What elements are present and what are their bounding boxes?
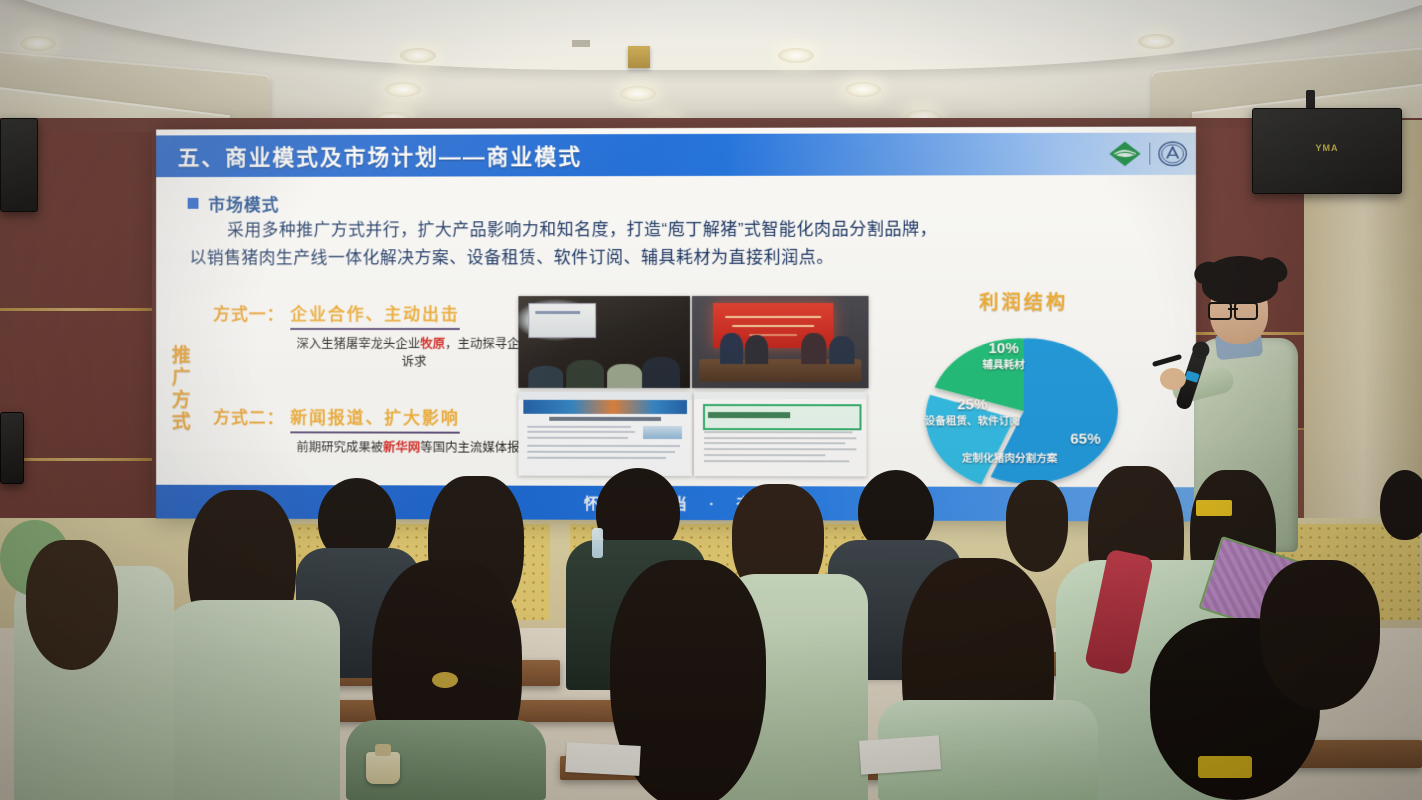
slide-logo-group xyxy=(1108,141,1188,167)
downlight-icon xyxy=(385,82,421,97)
slide-paragraph: 采用多种推广方式并行，扩大产品影响力和知名度，打造“庖丁解猪”式智能化肉品分割品… xyxy=(190,215,1155,271)
promo-way-two-desc-highlight: 新华网 xyxy=(383,440,420,454)
promo-way-one-desc-pre: 深入生猪屠宰龙头企业 xyxy=(296,337,420,351)
photo-person xyxy=(720,333,743,364)
slide-bullet-row: 市场模式 xyxy=(188,191,280,216)
promo-way-one-heading: 方式一： 企业合作、主动出击 xyxy=(213,300,538,330)
photo-person xyxy=(801,333,826,364)
water-bottle xyxy=(592,528,603,558)
banner-text-line xyxy=(725,316,821,318)
slide-title: 五、商业模式及市场计划——商业模式 xyxy=(178,139,582,172)
hair-clip-icon xyxy=(1196,500,1232,516)
downlight-icon xyxy=(400,48,436,63)
news-article-screenshot-right xyxy=(694,392,867,476)
paragraph-line-1-text: 采用多种推广方式并行，扩大产品影响力和知名度，打造“庖丁解猪”式智能化肉品分割品… xyxy=(227,220,937,240)
photo-person xyxy=(566,360,604,388)
bullet-square-icon xyxy=(188,198,199,209)
promo-way-two-number: 方式二： xyxy=(213,403,284,428)
university-seal-logo-icon xyxy=(1157,141,1187,167)
article-text-line xyxy=(704,454,825,456)
downlight-icon xyxy=(845,82,881,97)
slide-bullet-label: 市场模式 xyxy=(208,191,279,216)
wall-gold-trim xyxy=(0,308,152,311)
pie-label-65-name: 定制化猪肉分割方案 xyxy=(929,452,1091,466)
article-thumbnail xyxy=(643,426,681,439)
promo-way-two-title: 新闻报道、扩大影响 xyxy=(290,404,459,434)
drink-cup xyxy=(366,752,400,784)
projection-screen[interactable]: 五、商业模式及市场计划——商业模式 xyxy=(156,126,1196,521)
article-text-line xyxy=(527,451,675,453)
photo-person xyxy=(642,357,680,388)
hair-clip-icon xyxy=(432,672,458,688)
browser-topbar xyxy=(518,392,692,400)
headline-text xyxy=(708,412,791,418)
audience-long-hair xyxy=(1260,560,1380,710)
whiteboard xyxy=(529,303,596,338)
presenter-hair xyxy=(1202,256,1278,304)
pie-value-65: 65% xyxy=(1070,431,1100,450)
ceiling-vent-icon xyxy=(572,40,590,47)
speaker-brand-label: YMA xyxy=(1316,143,1339,153)
ceiling-projector-mount xyxy=(628,46,650,68)
meeting-dark-room-photo xyxy=(518,296,690,388)
downlight-icon xyxy=(620,86,656,101)
downlight-icon xyxy=(1138,34,1174,49)
promo-way-two-heading: 方式二： 新闻报道、扩大影响 xyxy=(213,403,538,433)
audience-long-hair xyxy=(1006,480,1068,572)
audience-head xyxy=(1380,470,1422,540)
article-text-line xyxy=(527,456,666,458)
promo-way-one-number: 方式一： xyxy=(213,300,284,325)
article-text-line xyxy=(527,425,631,427)
promo-way-one-desc-highlight: 牧原 xyxy=(420,337,445,351)
presenter-glasses-icon xyxy=(1208,302,1258,317)
article-text-line xyxy=(704,448,856,450)
lecture-hall-scene: YMA 五、商业模式及市场计划——商业模式 xyxy=(0,0,1422,800)
article-text-line xyxy=(527,437,628,439)
leaf-shield-logo-icon xyxy=(1108,141,1142,167)
meeting-red-banner-photo xyxy=(692,296,869,388)
article-headline xyxy=(550,417,661,421)
pie-label-10: 10% 辅具耗材 xyxy=(949,340,1058,372)
banner-text-line xyxy=(732,325,814,327)
promo-way-two-desc-post: 等国内主流媒体报道 xyxy=(420,441,532,455)
promo-way-one-desc: 深入生猪屠宰龙头企业牧原，主动探寻企业诉求 xyxy=(290,335,538,371)
wall-speaker-right: YMA xyxy=(1252,108,1402,194)
pie-category-10: 辅具耗材 xyxy=(949,359,1058,372)
promo-way-two: 方式二： 新闻报道、扩大影响 前期研究成果被新华网等国内主流媒体报道 xyxy=(213,403,538,456)
ceiling xyxy=(0,0,1422,132)
promo-methods-vertical-label: 推广方式 xyxy=(172,346,198,435)
audience-long-hair xyxy=(26,540,118,670)
photo-person xyxy=(529,366,563,388)
promo-way-one: 方式一： 企业合作、主动出击 深入生猪屠宰龙头企业牧原，主动探寻企业诉求 xyxy=(213,300,538,371)
webpage-hero-banner xyxy=(524,400,687,414)
yellow-hair-clip-icon xyxy=(1198,756,1252,778)
slide-paragraph-line-2: 以销售猪肉生产线一体化解决方案、设备租赁、软件订阅、辅具耗材为直接利润点。 xyxy=(190,243,1155,271)
article-text-line xyxy=(704,442,845,444)
pie-category-25: 设备租赁、软件订阅 xyxy=(887,415,1058,428)
wall-speaker-left xyxy=(0,118,38,212)
article-text-line xyxy=(704,460,849,462)
downlight-icon xyxy=(20,36,56,51)
paper-sheet xyxy=(565,742,640,776)
pie-label-25: 25% 设备租赁、软件订阅 xyxy=(887,396,1058,428)
pie-value-25: 25% xyxy=(887,396,1058,415)
promo-way-one-title: 企业合作、主动出击 xyxy=(290,300,459,330)
logo-divider xyxy=(1149,143,1150,165)
downlight-icon xyxy=(778,48,814,63)
paper-sheet xyxy=(859,735,941,774)
photo-person xyxy=(745,335,768,364)
pie-label-65: 65% xyxy=(1070,431,1100,450)
pie-chart-title: 利润结构 xyxy=(979,288,1068,315)
wall-speaker-left-lower xyxy=(0,412,24,484)
article-text-line xyxy=(704,431,852,433)
article-text-line xyxy=(527,445,680,447)
speaker-mount-bracket xyxy=(1306,90,1315,110)
audience-body xyxy=(160,600,340,800)
article-text-line xyxy=(527,431,635,433)
pie-category-65: 定制化猪肉分割方案 xyxy=(929,452,1091,466)
slide-paragraph-line-1: 采用多种推广方式并行，扩大产品影响力和知名度，打造“庖丁解猪”式智能化肉品分割品… xyxy=(190,215,1155,244)
news-webpage-screenshot-left xyxy=(518,392,692,476)
photo-person xyxy=(608,364,642,388)
site-topbar xyxy=(694,392,867,399)
ceiling-curved-soffit xyxy=(0,0,1422,70)
pie-value-10: 10% xyxy=(949,340,1058,359)
slide-header-bar: 五、商业模式及市场计划——商业模式 xyxy=(156,133,1196,178)
presenter-hand xyxy=(1160,368,1186,390)
promo-way-two-desc-pre: 前期研究成果被 xyxy=(296,440,383,454)
whiteboard-scribble xyxy=(535,311,580,314)
promo-way-two-desc: 前期研究成果被新华网等国内主流媒体报道 xyxy=(290,438,538,457)
photo-person xyxy=(830,336,855,364)
article-text-line xyxy=(704,437,856,439)
